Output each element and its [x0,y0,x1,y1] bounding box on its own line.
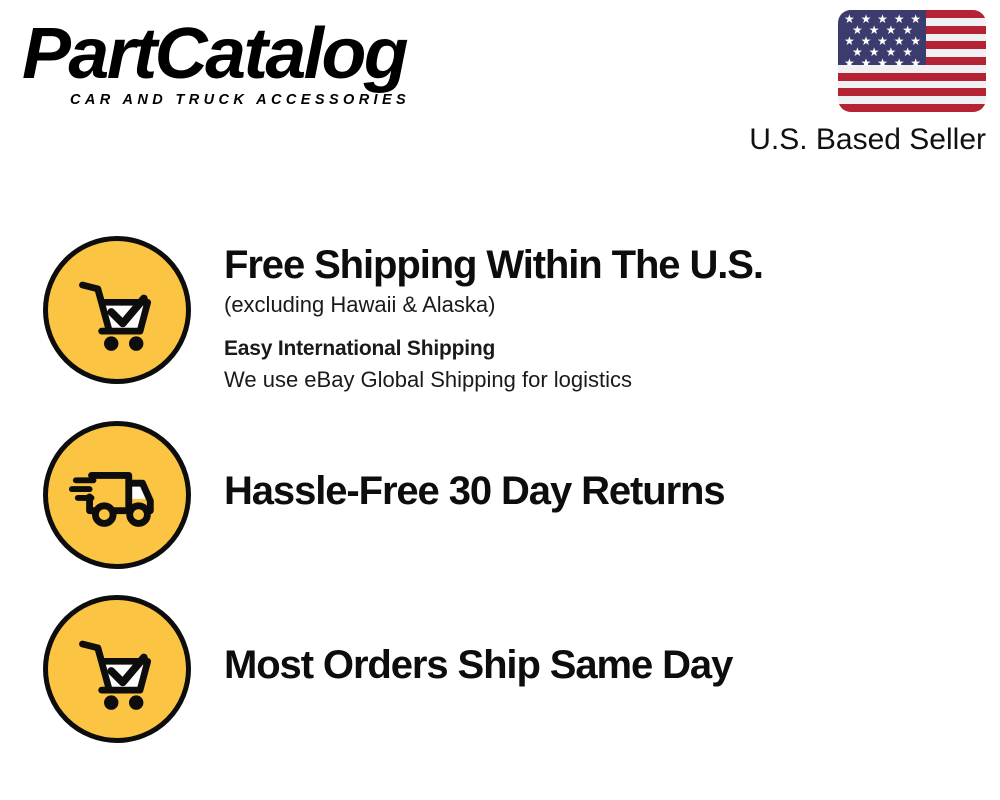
us-flag-icon: ★ ★ ★ ★ ★ ★ ★ ★ ★ ★ [838,10,986,112]
flag-stripe [838,88,986,96]
star-icon: ★ [844,58,855,69]
shopping-cart-check-icon [43,236,191,384]
star-icon: ★ [910,58,921,69]
promo-banner: PartCatalog CAR AND TRUCK ACCESSORIES [0,0,1000,800]
flag-stripe [838,96,986,104]
feature-subtext-logistics: We use eBay Global Shipping for logistic… [224,365,1000,395]
flag-stars: ★ ★ ★ ★ ★ ★ ★ ★ ★ ★ [838,10,926,65]
flag-canton: ★ ★ ★ ★ ★ ★ ★ ★ ★ ★ [838,10,926,65]
flag-stripe [838,104,986,112]
brand-wordmark: PartCatalog [22,18,512,90]
flag-stripe [838,81,986,89]
feature-subtext-exclusions: (excluding Hawaii & Alaska) [224,290,1000,320]
star-icon: ★ [861,58,872,69]
us-based-seller-label: U.S. Based Seller [706,123,986,157]
brand-logo: PartCatalog CAR AND TRUCK ACCESSORIES [22,18,502,108]
feature-row: Free Shipping Within The U.S. (excluding… [0,236,1000,395]
feature-subtext-international-heading: Easy International Shipping [224,334,1000,364]
star-icon: ★ [894,58,905,69]
feature-row: Hassle-Free 30 Day Returns [0,421,1000,569]
feature-list: Free Shipping Within The U.S. (excluding… [0,236,1000,769]
feature-heading: Free Shipping Within The U.S. [224,242,1000,289]
shopping-cart-check-icon [43,595,191,743]
star-icon: ★ [877,58,888,69]
feature-text-block: Most Orders Ship Same Day [191,595,1000,689]
feature-row: Most Orders Ship Same Day [0,595,1000,743]
brand-tagline: CAR AND TRUCK ACCESSORIES [70,92,502,108]
feature-text-block: Free Shipping Within The U.S. (excluding… [191,236,1000,395]
banner-header: PartCatalog CAR AND TRUCK ACCESSORIES [0,0,1000,170]
us-based-seller-block: ★ ★ ★ ★ ★ ★ ★ ★ ★ ★ [706,10,986,157]
feature-heading: Hassle-Free 30 Day Returns [224,468,1000,515]
flag-star-row: ★ ★ ★ ★ ★ [844,58,921,69]
feature-text-block: Hassle-Free 30 Day Returns [191,421,1000,515]
flag-stripe [838,73,986,81]
feature-heading: Most Orders Ship Same Day [224,642,1000,689]
delivery-truck-icon [43,421,191,569]
